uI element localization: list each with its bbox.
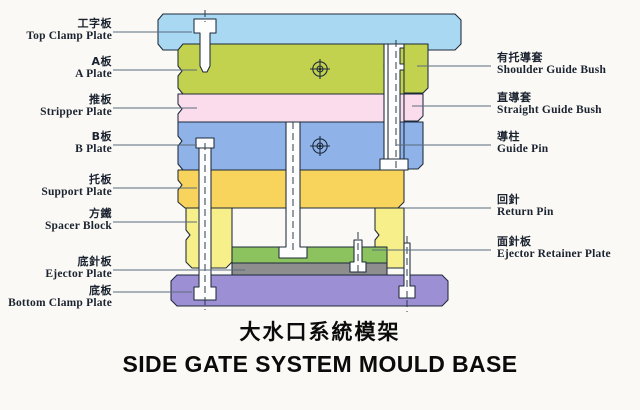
label-ejector-plate: 底針板 Ejector Plate bbox=[45, 256, 112, 281]
label-en: Ejector Retainer Plate bbox=[497, 248, 611, 261]
label-return-pin: 回針 Return Pin bbox=[497, 194, 554, 219]
diagram-canvas: 工字板 Top Clamp Plate A板 A Plate 推板 Stripp… bbox=[0, 0, 640, 410]
diagram-title: 大水口系統模架 SIDE GATE SYSTEM MOULD BASE bbox=[0, 316, 640, 378]
label-cn: 回針 bbox=[497, 194, 554, 206]
label-cn: A板 bbox=[75, 56, 112, 68]
label-cn: 有托導套 bbox=[497, 52, 606, 64]
shoulder-guide-bush bbox=[404, 44, 428, 93]
label-cn: 底板 bbox=[8, 285, 112, 297]
label-spacer-block: 方鐵 Spacer Block bbox=[45, 208, 112, 233]
label-cn: 直導套 bbox=[497, 92, 602, 104]
label-en: Spacer Block bbox=[45, 220, 112, 233]
label-cn: 面針板 bbox=[497, 236, 611, 248]
label-ejector-retainer-plate: 面針板 Ejector Retainer Plate bbox=[497, 236, 611, 261]
guide-pin-shaft bbox=[384, 44, 388, 170]
label-shoulder-guide-bush: 有托導套 Shoulder Guide Bush bbox=[497, 52, 606, 77]
label-stripper-plate: 推板 Stripper Plate bbox=[40, 94, 112, 119]
ejector-retainer-plate bbox=[232, 247, 387, 263]
label-b-plate: B板 B Plate bbox=[75, 131, 112, 156]
label-en: A Plate bbox=[75, 68, 112, 81]
label-cn: 導柱 bbox=[497, 131, 548, 143]
label-straight-guide-bush: 直導套 Straight Guide Bush bbox=[497, 92, 602, 117]
label-en: Shoulder Guide Bush bbox=[497, 64, 606, 77]
label-en: Top Clamp Plate bbox=[26, 30, 112, 43]
label-en: Guide Pin bbox=[497, 143, 548, 156]
label-en: Bottom Clamp Plate bbox=[8, 297, 112, 310]
label-bottom-clamp-plate: 底板 Bottom Clamp Plate bbox=[8, 285, 112, 310]
label-support-plate: 托板 Support Plate bbox=[41, 174, 112, 199]
label-cn: 推板 bbox=[40, 94, 112, 106]
a-plate bbox=[178, 44, 404, 94]
label-top-clamp-plate: 工字板 Top Clamp Plate bbox=[26, 18, 112, 43]
label-cn: 方鐵 bbox=[45, 208, 112, 220]
title-en: SIDE GATE SYSTEM MOULD BASE bbox=[0, 351, 640, 378]
straight-guide-bush bbox=[404, 94, 423, 121]
guide-pin-head bbox=[380, 159, 408, 170]
label-en: Stripper Plate bbox=[40, 106, 112, 119]
label-cn: B板 bbox=[75, 131, 112, 143]
label-en: B Plate bbox=[75, 143, 112, 156]
stripper-plate bbox=[178, 94, 404, 122]
label-en: Support Plate bbox=[41, 186, 112, 199]
label-a-plate: A板 A Plate bbox=[75, 56, 112, 81]
label-en: Straight Guide Bush bbox=[497, 104, 602, 117]
label-cn: 底針板 bbox=[45, 256, 112, 268]
title-cn: 大水口系統模架 bbox=[0, 316, 640, 346]
label-cn: 托板 bbox=[41, 174, 112, 186]
label-cn: 工字板 bbox=[26, 18, 112, 30]
label-en: Return Pin bbox=[497, 206, 554, 219]
label-guide-pin: 導柱 Guide Pin bbox=[497, 131, 548, 156]
label-en: Ejector Plate bbox=[45, 268, 112, 281]
